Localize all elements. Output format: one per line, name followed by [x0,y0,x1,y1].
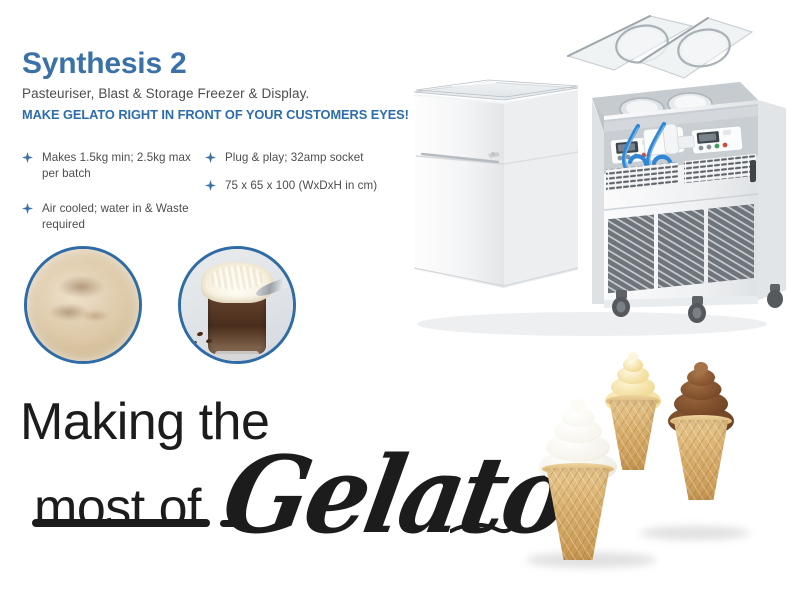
whipped-cream [201,262,273,302]
page-title: Synthesis 2 [22,48,422,80]
list-item-label: Air cooled; water in & Waste required [42,202,189,231]
product-subtitle: Pasteuriser, Blast & Storage Freezer & D… [22,86,422,102]
script-swash-icon [450,521,512,539]
waffle-cone [542,468,614,560]
affogato-image [181,249,293,361]
headline-rule [32,519,210,527]
diamond-bullet-icon [205,180,216,191]
feature-column-left: Makes 1.5kg min; 2.5kg max per batch Air… [22,150,197,245]
chocolate-cone [670,420,732,500]
coffee-bean [191,340,198,346]
list-item-label: Makes 1.5kg min; 2.5kg max per batch [42,151,191,180]
gelato-tub-photo [24,246,142,364]
product-tagline: MAKE GELATO RIGHT IN FRONT OF YOUR CUSTO… [22,107,422,122]
machine-illustration [392,4,796,340]
headline-block: Making the most of Gelato [20,396,540,576]
product-copy-block: Synthesis 2 Pasteuriser, Blast & Storage… [22,48,422,122]
list-item-label: 75 x 65 x 100 (WxDxH in cm) [225,179,377,192]
affogato-photo [178,246,296,364]
list-item-label: Plug & play; 32amp socket [225,151,364,164]
vanilla-cone [542,468,614,560]
ventilation-grilles [608,204,754,293]
synthesis-2-machine-photo [392,4,796,340]
diamond-bullet-icon [22,203,33,214]
coffee-bean [196,331,203,337]
ice-cream-cones-photo [520,376,780,586]
gelato-machine [568,16,786,323]
list-item: Makes 1.5kg min; 2.5kg max per batch [22,150,197,181]
cone-shadow [640,526,750,540]
storage-freezer-cabinet [414,80,578,288]
diamond-bullet-icon [22,152,33,163]
gelato-tub-image [27,249,139,361]
marketing-page: Synthesis 2 Pasteuriser, Blast & Storage… [0,0,800,600]
control-panel-right [691,126,743,154]
list-item: Air cooled; water in & Waste required [22,201,197,232]
waffle-cone [670,420,732,500]
diamond-bullet-icon [205,152,216,163]
